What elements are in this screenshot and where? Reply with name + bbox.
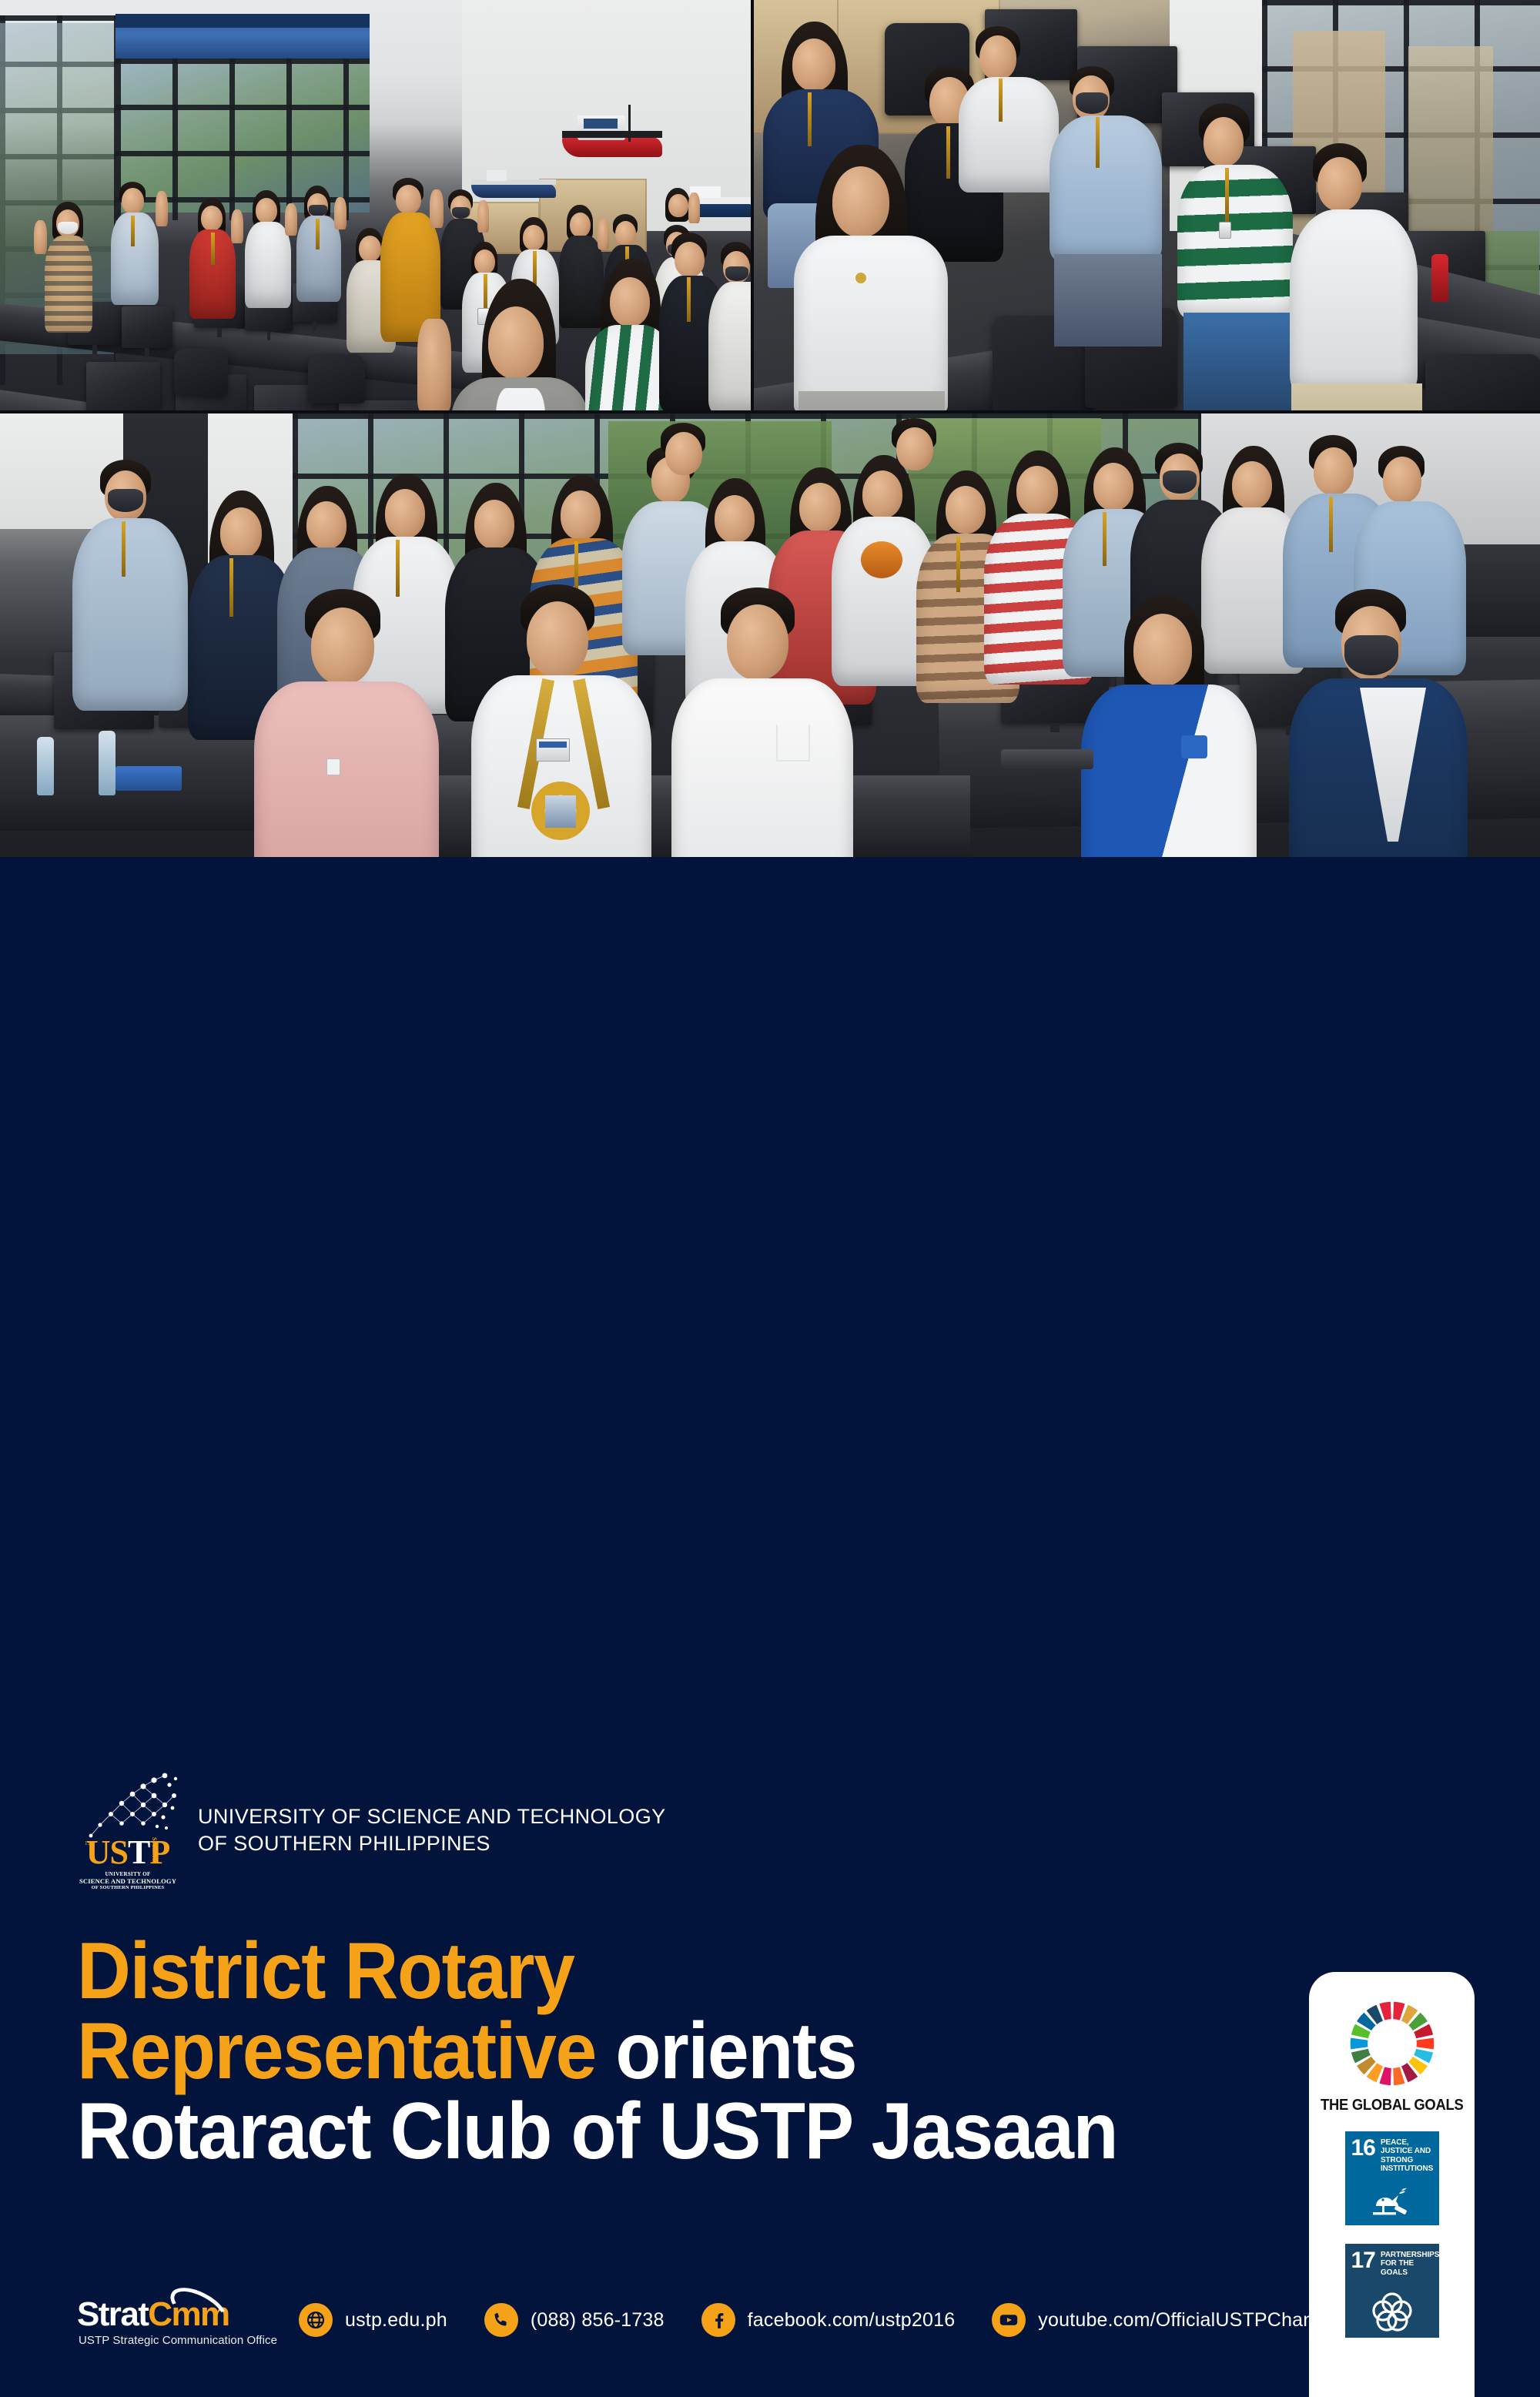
ustp-network-motif-icon <box>77 1769 179 1840</box>
dove-gavel-icon <box>1345 2186 1439 2220</box>
sdg-goal-17: 17 PARTNERSHIPS FOR THE GOALS <box>1345 2244 1439 2338</box>
youtube-icon <box>992 2303 1026 2337</box>
university-name: UNIVERSITY OF SCIENCE AND TECHNOLOGY OF … <box>198 1797 666 1856</box>
phone-label: (088) 856-1738 <box>531 2309 665 2332</box>
photo-collage <box>0 0 1540 857</box>
headline-line2-plain: orients <box>596 2007 856 2096</box>
footer-bar: StratCmm USTP Strategic Communication Of… <box>77 2278 1340 2362</box>
facebook-label: facebook.com/ustp2016 <box>748 2309 956 2332</box>
stratcomm-logo: StratCmm USTP Strategic Communication Of… <box>77 2291 262 2349</box>
stratcomm-part1: Strat <box>77 2295 148 2333</box>
sdg-16-number: 16 <box>1351 2138 1375 2158</box>
sdg-17-number: 17 <box>1351 2251 1375 2271</box>
sdg-wheel-title: THE GLOBAL GOALS <box>1321 2097 1463 2114</box>
sdg-16-label: PEACE, JUSTICE AND STRONG INSTITUTIONS <box>1381 2138 1433 2173</box>
brand-lockup: 1927 Southern USTP UNIVERSITY OF SCIENCE… <box>77 1769 666 1885</box>
sdg-goal-16: 16 PEACE, JUSTICE AND STRONG INSTITUTION… <box>1345 2131 1439 2225</box>
interlocking-circles-icon <box>1345 2291 1439 2332</box>
group-photo <box>0 413 1540 857</box>
ustp-sub-line2: SCIENCE AND TECHNOLOGY <box>77 1877 179 1885</box>
page-title: District Rotary Representative orients R… <box>77 1931 1166 2171</box>
navy-content-panel: 1927 Southern USTP UNIVERSITY OF SCIENCE… <box>0 857 1540 1540</box>
sdg-wheel-icon: ["#E5243B","#DDA63A","#4C9F38","#C5192D"… <box>1347 1998 1438 2089</box>
ustp-sub-line3: OF SOUTHERN PHILIPPINES <box>77 1885 179 1890</box>
facebook-icon <box>701 2303 735 2337</box>
seated-attendees-photo <box>754 0 1540 410</box>
phone-icon <box>484 2303 518 2337</box>
ustp-logo: 1927 Southern USTP UNIVERSITY OF SCIENCE… <box>77 1769 179 1885</box>
globe-icon <box>299 2303 333 2337</box>
headline-line2-accent: Representative <box>77 2007 596 2096</box>
oath-taking-ceremony-photo <box>0 0 751 410</box>
headline-line1: District Rotary <box>77 1927 574 2016</box>
ustp-logo-subtitle: UNIVERSITY OF SCIENCE AND TECHNOLOGY OF … <box>77 1871 179 1890</box>
ustp-sub-line1: UNIVERSITY OF <box>77 1871 179 1877</box>
website-label: ustp.edu.ph <box>345 2309 447 2332</box>
ustp-wordmark: USTP <box>77 1836 179 1870</box>
contact-youtube[interactable]: youtube.com/OfficialUSTPChannel <box>992 2303 1340 2337</box>
sdg-panel: ["#E5243B","#DDA63A","#4C9F38","#C5192D"… <box>1309 1972 1475 2397</box>
contact-website[interactable]: ustp.edu.ph <box>299 2303 447 2337</box>
headline-line3: Rotaract Club of USTP Jasaan <box>77 2087 1117 2176</box>
contact-facebook[interactable]: facebook.com/ustp2016 <box>701 2303 956 2337</box>
contact-phone[interactable]: (088) 856-1738 <box>484 2303 665 2337</box>
stratcomm-part2: C <box>148 2295 171 2333</box>
sdg-17-label: PARTNERSHIPS FOR THE GOALS <box>1381 2251 1439 2277</box>
stratcomm-tagline: USTP Strategic Communication Office <box>79 2334 277 2347</box>
youtube-label: youtube.com/OfficialUSTPChannel <box>1038 2309 1340 2332</box>
